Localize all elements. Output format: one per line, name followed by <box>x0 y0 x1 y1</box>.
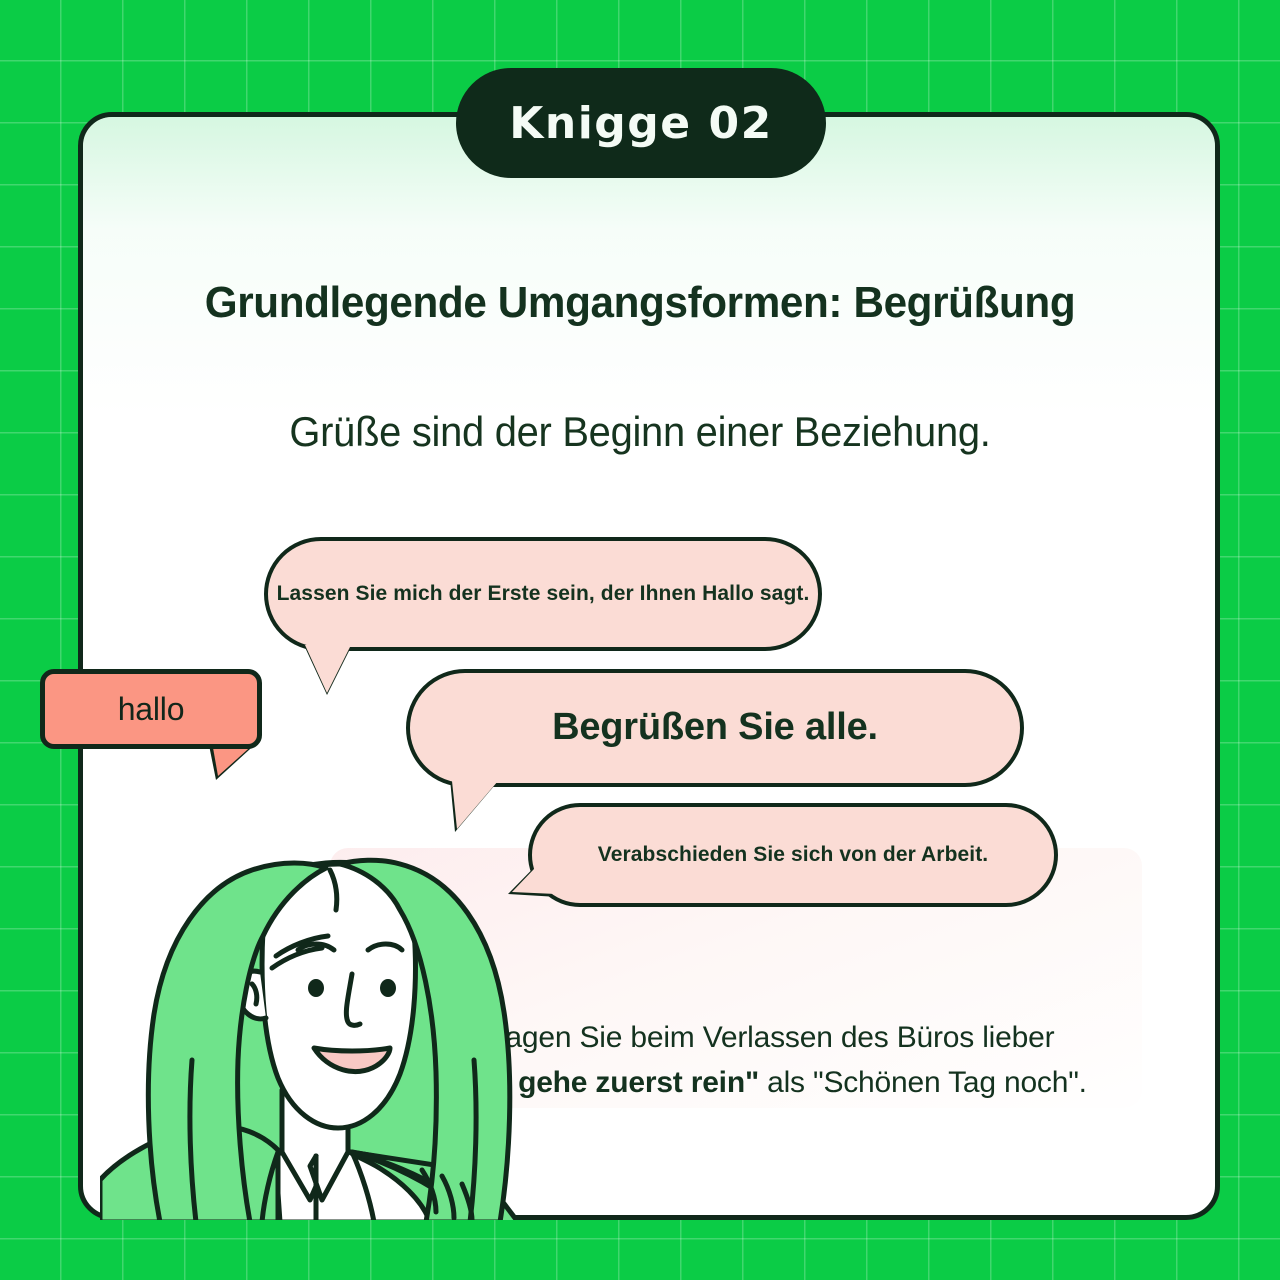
hallo-bubble-label: hallo <box>118 691 185 728</box>
lesson-badge: Knigge 02 <box>456 68 826 178</box>
speech-bubble-greet-everyone-text: Begrüßen Sie alle. <box>410 705 1020 751</box>
footer-note-rest: als "Schönen Tag noch". <box>759 1066 1087 1099</box>
lesson-badge-label: Knigge 02 <box>509 98 772 149</box>
illustration-woman-with-green-hair <box>100 760 570 1220</box>
speech-bubble-say-goodbye[interactable]: Verabschieden Sie sich von der Arbeit. <box>528 803 1058 907</box>
speech-bubble-first-greeting[interactable]: Lassen Sie mich der Erste sein, der Ihne… <box>264 537 822 651</box>
page-subtitle: Grüße sind der Beginn einer Beziehung. <box>32 408 1248 456</box>
page-title: Grundlegende Umgangsformen: Begrüßung <box>26 278 1255 328</box>
speech-bubble-first-greeting-text: Lassen Sie mich der Erste sein, der Ihne… <box>268 581 818 606</box>
speech-bubble-say-goodbye-text: Verabschieden Sie sich von der Arbeit. <box>532 842 1054 867</box>
hallo-bubble[interactable]: hallo <box>40 669 262 749</box>
